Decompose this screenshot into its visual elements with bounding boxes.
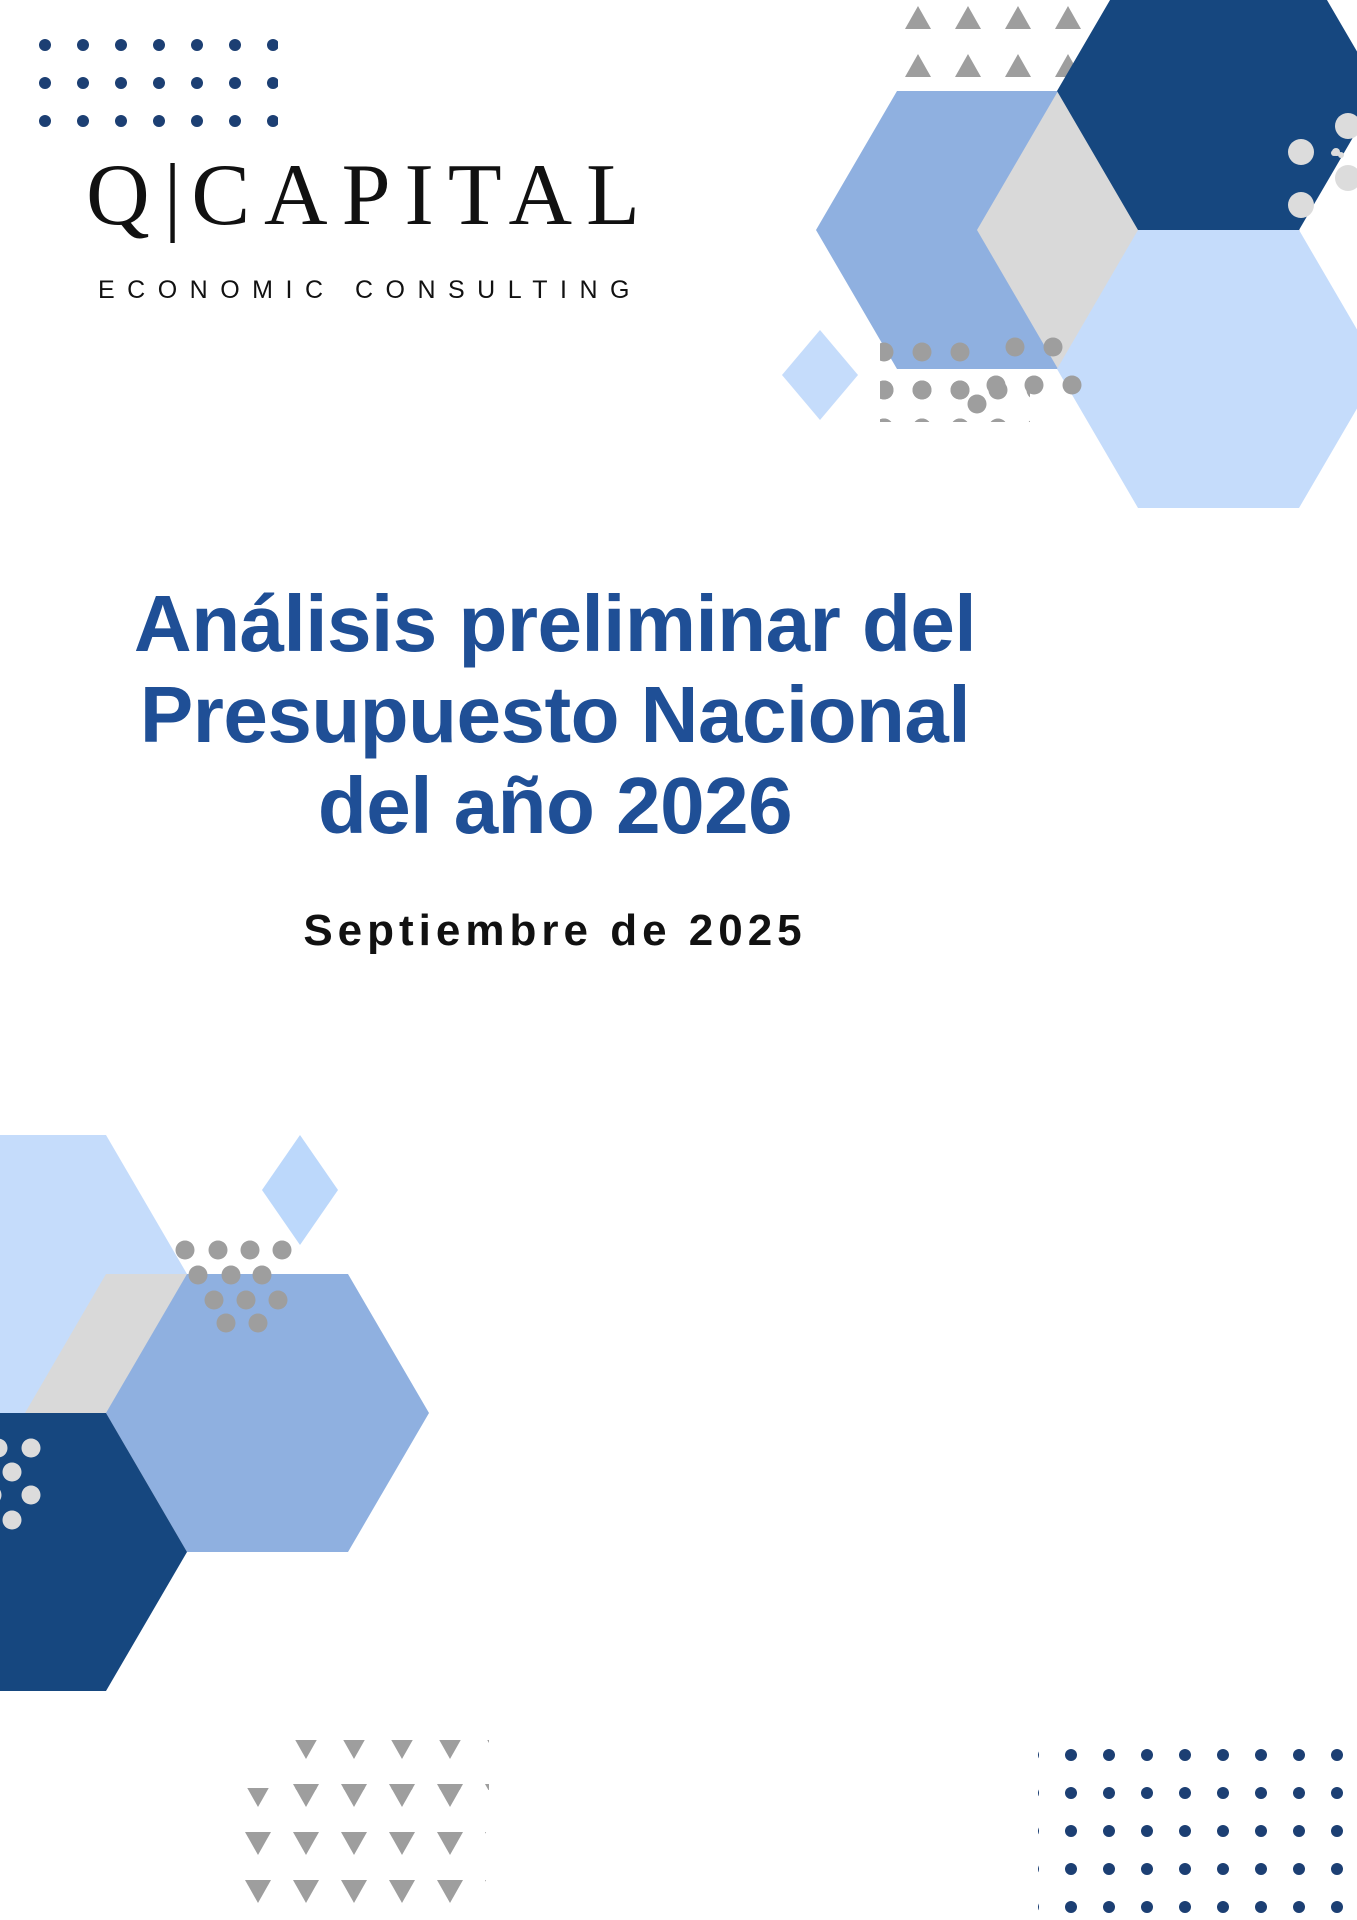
title-line-1: Análisis preliminar del: [50, 578, 1060, 669]
bottom-left-gray-dot-grid: [176, 1241, 292, 1333]
bottom-right-dot-grid: [1038, 1738, 1348, 1913]
title-line-3: del año 2026: [50, 760, 1060, 851]
top-left-dot-grid: [18, 22, 278, 152]
logo-tagline: ECONOMIC CONSULTING: [0, 276, 740, 305]
top-right-hexagon-cluster: [816, 0, 1357, 508]
publication-date: Septiembre de 2025: [50, 906, 1060, 956]
mid-right-gray-dot-grid: [880, 330, 1082, 422]
bottom-small-diamond: [262, 1135, 338, 1245]
logo-mark-left: Q: [86, 147, 164, 244]
page-title: Análisis preliminar del Presupuesto Naci…: [50, 578, 1060, 852]
title-line-2: Presupuesto Nacional: [50, 669, 1060, 760]
logo-mark-right: CAPITAL: [191, 147, 654, 244]
brand-logo: Q|CAPITAL ECONOMIC CONSULTING: [0, 150, 740, 305]
logo-divider: |: [164, 147, 192, 244]
bottom-left-hexagon-cluster: [0, 1135, 429, 1691]
bottom-triangle-grid: [236, 1740, 489, 1920]
title-block: Análisis preliminar del Presupuesto Naci…: [50, 578, 1060, 956]
bottom-left-light-dots: [0, 1439, 41, 1530]
document-cover-page: Q|CAPITAL ECONOMIC CONSULTING Análisis p…: [0, 0, 1357, 1920]
right-edge-light-dots: [1288, 113, 1357, 218]
top-triangle-grid: [897, 0, 1157, 144]
top-small-diamond: [782, 330, 858, 420]
logo-wordmark: Q|CAPITAL: [0, 150, 740, 242]
